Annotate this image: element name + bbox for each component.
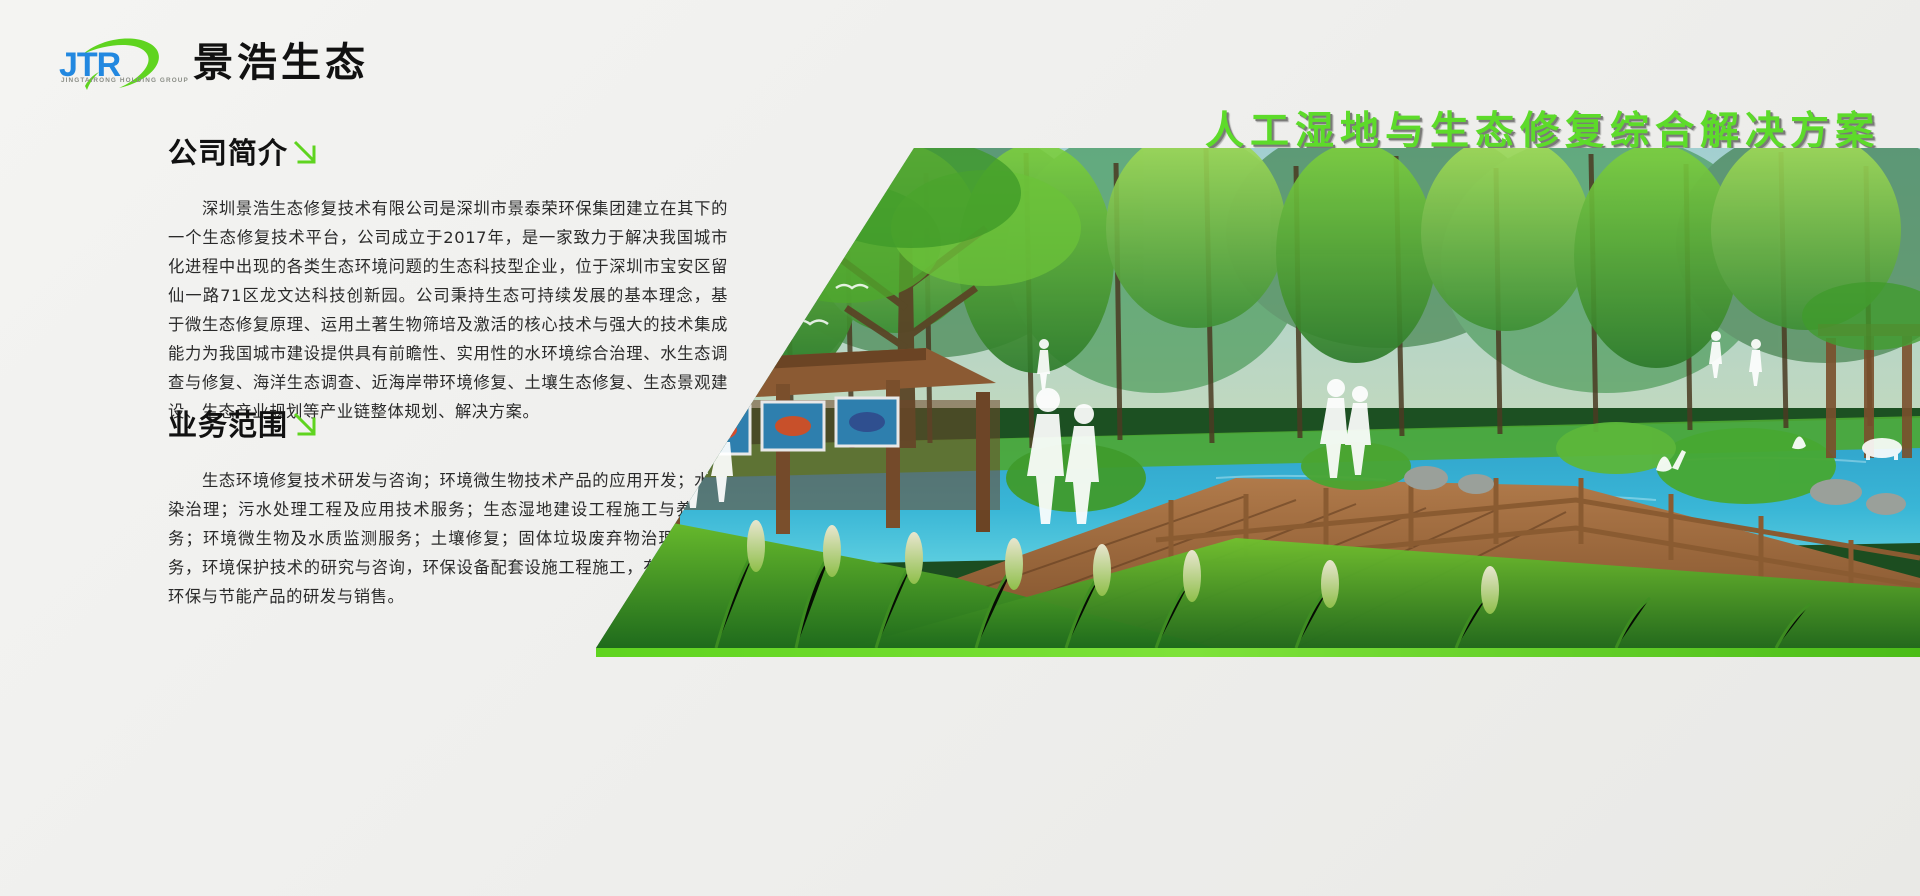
logo-company-name: 景浩生态 [193,30,369,88]
page-title: 人工湿地与生态修复综合解决方案 [1205,100,1880,156]
section-title: 业务范围 [168,411,288,440]
wetland-scene-illustration [596,148,1920,648]
section-heading: 业务范围 [168,410,728,440]
logo-mark: JTR JINGTAIRONG HOLDING GROUP [55,28,163,90]
poster-canvas: JTR JINGTAIRONG HOLDING GROUP 景浩生态 人工湿地与… [0,0,1920,896]
section-company-profile: 公司简介 深圳景浩生态修复技术有限公司是深圳市景泰荣环保集团建立在其下的一个生态… [168,138,728,426]
photo-baseline-bar [596,648,1920,657]
section-heading: 公司简介 [168,138,728,168]
wetland-rendering-panel [596,148,1920,648]
brand-logo: JTR JINGTAIRONG HOLDING GROUP 景浩生态 [55,28,369,90]
arrow-down-right-icon [290,138,320,168]
section-body-text: 深圳景浩生态修复技术有限公司是深圳市景泰荣环保集团建立在其下的一个生态修复技术平… [168,194,728,426]
logo-subtext: JINGTAIRONG HOLDING GROUP [61,77,189,84]
arrow-down-right-icon [290,410,320,440]
wetland-rendering-image [596,148,1920,648]
section-title: 公司简介 [168,139,288,168]
